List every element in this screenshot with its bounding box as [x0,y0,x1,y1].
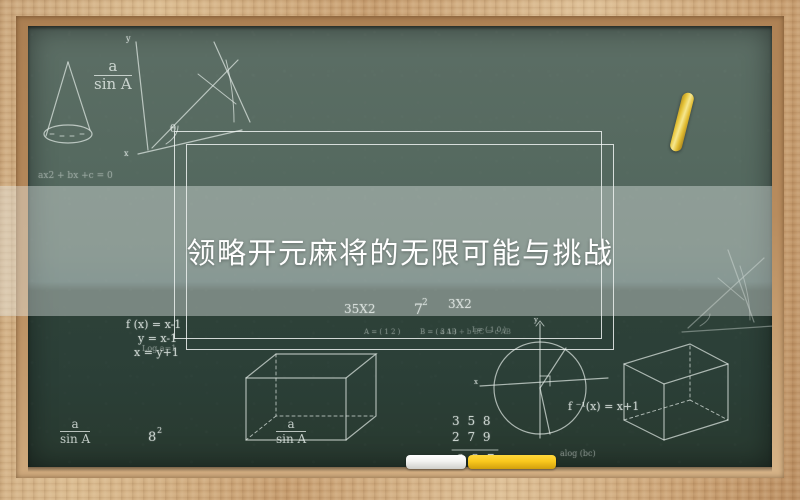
yellow-chalk-piece-icon [468,455,556,469]
page-title: 领略开元麻将的无限可能与挑战 [0,186,800,316]
board-ledge-shadow [28,467,772,472]
banner-stage: a sin A y x θ ax2 + bx +c = 0 f (x) = x-… [0,0,800,500]
white-chalk-piece-icon [406,455,466,469]
